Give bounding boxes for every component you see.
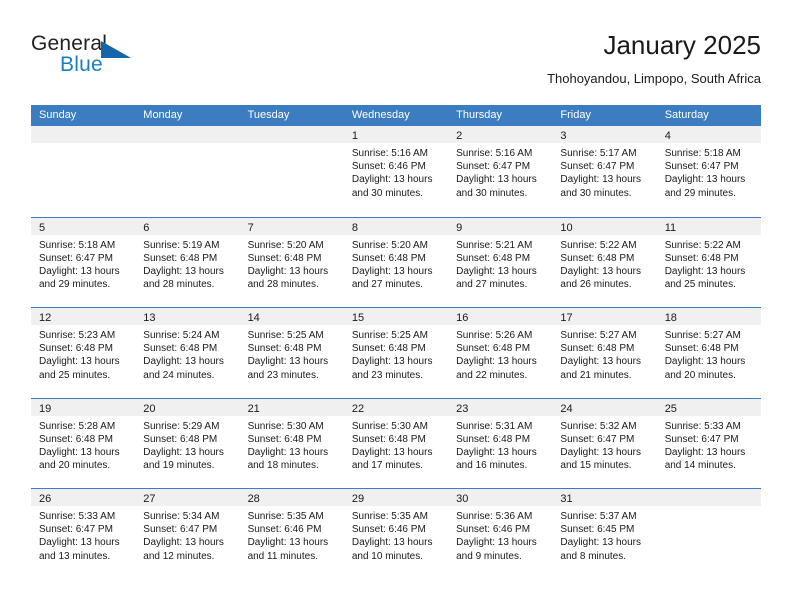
calendar-week-row: 5Sunrise: 5:18 AMSunset: 6:47 PMDaylight… (31, 217, 761, 308)
day-sun-info: Sunrise: 5:28 AMSunset: 6:48 PMDaylight:… (31, 416, 135, 473)
sunrise-text: Sunrise: 5:29 AM (143, 420, 233, 433)
day-sun-info: Sunrise: 5:21 AMSunset: 6:48 PMDaylight:… (448, 235, 552, 292)
calendar-day-cell[interactable]: 30Sunrise: 5:36 AMSunset: 6:46 PMDayligh… (448, 489, 552, 579)
day-number: 28 (248, 493, 260, 505)
sunrise-text: Sunrise: 5:23 AM (39, 329, 129, 342)
day-number-band: 23 (448, 399, 552, 416)
weekday-header-friday: Friday (552, 105, 656, 126)
day-number: 31 (560, 493, 572, 505)
sunrise-text: Sunrise: 5:19 AM (143, 239, 233, 252)
sunset-text: Sunset: 6:48 PM (456, 252, 546, 265)
daylight-text: Daylight: 13 hours and 30 minutes. (456, 173, 546, 199)
calendar-day-cell[interactable]: 21Sunrise: 5:30 AMSunset: 6:48 PMDayligh… (240, 399, 344, 489)
day-number-band: 8 (344, 218, 448, 235)
sunset-text: Sunset: 6:48 PM (248, 433, 338, 446)
sunset-text: Sunset: 6:48 PM (248, 252, 338, 265)
day-sun-info: Sunrise: 5:33 AMSunset: 6:47 PMDaylight:… (657, 416, 761, 473)
daylight-text: Daylight: 13 hours and 17 minutes. (352, 446, 442, 472)
day-number-band (135, 126, 239, 143)
page-title: January 2025 (547, 30, 761, 60)
sunrise-text: Sunrise: 5:30 AM (352, 420, 442, 433)
daylight-text: Daylight: 13 hours and 10 minutes. (352, 536, 442, 562)
sunrise-text: Sunrise: 5:31 AM (456, 420, 546, 433)
calendar-day-cell[interactable]: 23Sunrise: 5:31 AMSunset: 6:48 PMDayligh… (448, 399, 552, 489)
calendar-day-cell[interactable]: 22Sunrise: 5:30 AMSunset: 6:48 PMDayligh… (344, 399, 448, 489)
daylight-text: Daylight: 13 hours and 21 minutes. (560, 355, 650, 381)
day-number: 12 (39, 312, 51, 324)
calendar-day-cell[interactable]: 11Sunrise: 5:22 AMSunset: 6:48 PMDayligh… (657, 218, 761, 308)
day-number: 21 (248, 403, 260, 415)
calendar-week-row: 19Sunrise: 5:28 AMSunset: 6:48 PMDayligh… (31, 398, 761, 489)
sunset-text: Sunset: 6:46 PM (456, 523, 546, 536)
day-number: 16 (456, 312, 468, 324)
daylight-text: Daylight: 13 hours and 23 minutes. (352, 355, 442, 381)
day-sun-info: Sunrise: 5:37 AMSunset: 6:45 PMDaylight:… (552, 506, 656, 563)
daylight-text: Daylight: 13 hours and 28 minutes. (143, 265, 233, 291)
sunrise-text: Sunrise: 5:18 AM (39, 239, 129, 252)
day-number-band: 20 (135, 399, 239, 416)
sunrise-text: Sunrise: 5:22 AM (665, 239, 755, 252)
day-number: 11 (665, 222, 676, 234)
day-number: 29 (352, 493, 364, 505)
sunrise-text: Sunrise: 5:33 AM (665, 420, 755, 433)
day-sun-info: Sunrise: 5:34 AMSunset: 6:47 PMDaylight:… (135, 506, 239, 563)
daylight-text: Daylight: 13 hours and 30 minutes. (352, 173, 442, 199)
calendar-week-row: 26Sunrise: 5:33 AMSunset: 6:47 PMDayligh… (31, 488, 761, 579)
day-number-band: 25 (657, 399, 761, 416)
sunset-text: Sunset: 6:47 PM (665, 433, 755, 446)
sunrise-text: Sunrise: 5:30 AM (248, 420, 338, 433)
sunset-text: Sunset: 6:46 PM (352, 523, 442, 536)
sunset-text: Sunset: 6:48 PM (39, 433, 129, 446)
day-number-band (31, 126, 135, 143)
day-sun-info: Sunrise: 5:25 AMSunset: 6:48 PMDaylight:… (240, 325, 344, 382)
day-number-band: 10 (552, 218, 656, 235)
day-number-band: 6 (135, 218, 239, 235)
sunset-text: Sunset: 6:48 PM (143, 433, 233, 446)
day-number-band: 7 (240, 218, 344, 235)
sunset-text: Sunset: 6:48 PM (248, 342, 338, 355)
daylight-text: Daylight: 13 hours and 29 minutes. (665, 173, 755, 199)
general-blue-logo[interactable]: General Blue (31, 32, 151, 86)
day-sun-info: Sunrise: 5:16 AMSunset: 6:46 PMDaylight:… (344, 143, 448, 200)
sunset-text: Sunset: 6:46 PM (248, 523, 338, 536)
daylight-text: Daylight: 13 hours and 27 minutes. (352, 265, 442, 291)
day-sun-info: Sunrise: 5:16 AMSunset: 6:47 PMDaylight:… (448, 143, 552, 200)
calendar-day-cell[interactable]: 13Sunrise: 5:24 AMSunset: 6:48 PMDayligh… (135, 308, 239, 398)
calendar-day-cell[interactable]: 8Sunrise: 5:20 AMSunset: 6:48 PMDaylight… (344, 218, 448, 308)
day-sun-info: Sunrise: 5:30 AMSunset: 6:48 PMDaylight:… (240, 416, 344, 473)
sunrise-text: Sunrise: 5:20 AM (352, 239, 442, 252)
sunset-text: Sunset: 6:48 PM (352, 433, 442, 446)
day-number-band: 27 (135, 489, 239, 506)
calendar-day-cell[interactable]: 17Sunrise: 5:27 AMSunset: 6:48 PMDayligh… (552, 308, 656, 398)
day-number: 15 (352, 312, 364, 324)
sunrise-text: Sunrise: 5:27 AM (665, 329, 755, 342)
day-number: 8 (352, 222, 358, 234)
day-sun-info: Sunrise: 5:22 AMSunset: 6:48 PMDaylight:… (657, 235, 761, 292)
sunset-text: Sunset: 6:45 PM (560, 523, 650, 536)
day-number: 22 (352, 403, 364, 415)
weekday-header-thursday: Thursday (448, 105, 552, 126)
day-number-band: 14 (240, 308, 344, 325)
calendar-day-cell[interactable]: 24Sunrise: 5:32 AMSunset: 6:47 PMDayligh… (552, 399, 656, 489)
calendar-day-cell[interactable]: 27Sunrise: 5:34 AMSunset: 6:47 PMDayligh… (135, 489, 239, 579)
day-number: 30 (456, 493, 468, 505)
day-number: 26 (39, 493, 51, 505)
day-number-band: 11 (657, 218, 761, 235)
calendar-day-cell[interactable]: 15Sunrise: 5:25 AMSunset: 6:48 PMDayligh… (344, 308, 448, 398)
day-number: 18 (665, 312, 677, 324)
daylight-text: Daylight: 13 hours and 25 minutes. (665, 265, 755, 291)
sunrise-text: Sunrise: 5:28 AM (39, 420, 129, 433)
daylight-text: Daylight: 13 hours and 12 minutes. (143, 536, 233, 562)
sunrise-text: Sunrise: 5:37 AM (560, 510, 650, 523)
calendar-day-empty (657, 489, 761, 579)
day-sun-info: Sunrise: 5:33 AMSunset: 6:47 PMDaylight:… (31, 506, 135, 563)
day-number-band: 4 (657, 126, 761, 143)
daylight-text: Daylight: 13 hours and 28 minutes. (248, 265, 338, 291)
day-sun-info: Sunrise: 5:17 AMSunset: 6:47 PMDaylight:… (552, 143, 656, 200)
weekday-header-wednesday: Wednesday (344, 105, 448, 126)
sunrise-text: Sunrise: 5:26 AM (456, 329, 546, 342)
day-number-band: 3 (552, 126, 656, 143)
brand-name-blue: Blue (60, 53, 103, 77)
calendar-day-cell[interactable]: 10Sunrise: 5:22 AMSunset: 6:48 PMDayligh… (552, 218, 656, 308)
day-number: 13 (143, 312, 155, 324)
day-number-band: 15 (344, 308, 448, 325)
sunrise-text: Sunrise: 5:20 AM (248, 239, 338, 252)
daylight-text: Daylight: 13 hours and 23 minutes. (248, 355, 338, 381)
sunrise-text: Sunrise: 5:33 AM (39, 510, 129, 523)
calendar-day-cell[interactable]: 9Sunrise: 5:21 AMSunset: 6:48 PMDaylight… (448, 218, 552, 308)
calendar-day-cell[interactable]: 31Sunrise: 5:37 AMSunset: 6:45 PMDayligh… (552, 489, 656, 579)
day-number: 27 (143, 493, 155, 505)
sunrise-text: Sunrise: 5:17 AM (560, 147, 650, 160)
day-sun-info: Sunrise: 5:18 AMSunset: 6:47 PMDaylight:… (657, 143, 761, 200)
day-sun-info: Sunrise: 5:35 AMSunset: 6:46 PMDaylight:… (240, 506, 344, 563)
day-number: 25 (665, 403, 677, 415)
day-number-band: 22 (344, 399, 448, 416)
day-sun-info: Sunrise: 5:20 AMSunset: 6:48 PMDaylight:… (240, 235, 344, 292)
sunset-text: Sunset: 6:47 PM (39, 523, 129, 536)
page-header: General Blue January 2025 Thohoyandou, L… (31, 30, 761, 100)
day-sun-info: Sunrise: 5:19 AMSunset: 6:48 PMDaylight:… (135, 235, 239, 292)
sunrise-text: Sunrise: 5:27 AM (560, 329, 650, 342)
daylight-text: Daylight: 13 hours and 30 minutes. (560, 173, 650, 199)
day-sun-info: Sunrise: 5:23 AMSunset: 6:48 PMDaylight:… (31, 325, 135, 382)
sunset-text: Sunset: 6:48 PM (352, 252, 442, 265)
sunset-text: Sunset: 6:48 PM (665, 252, 755, 265)
sunset-text: Sunset: 6:48 PM (143, 252, 233, 265)
calendar-weeks: 1Sunrise: 5:16 AMSunset: 6:46 PMDaylight… (31, 126, 761, 579)
day-number-band: 26 (31, 489, 135, 506)
sunrise-text: Sunrise: 5:16 AM (456, 147, 546, 160)
day-number: 19 (39, 403, 51, 415)
sunrise-text: Sunrise: 5:22 AM (560, 239, 650, 252)
day-number-band: 12 (31, 308, 135, 325)
sunrise-text: Sunrise: 5:35 AM (352, 510, 442, 523)
daylight-text: Daylight: 13 hours and 9 minutes. (456, 536, 546, 562)
day-sun-info: Sunrise: 5:27 AMSunset: 6:48 PMDaylight:… (657, 325, 761, 382)
calendar-week-row: 1Sunrise: 5:16 AMSunset: 6:46 PMDaylight… (31, 126, 761, 217)
day-number-band: 31 (552, 489, 656, 506)
weekday-header-sunday: Sunday (31, 105, 135, 126)
day-number: 20 (143, 403, 155, 415)
day-number-band: 17 (552, 308, 656, 325)
calendar-page: General Blue January 2025 Thohoyandou, L… (0, 0, 792, 612)
calendar-day-cell[interactable]: 3Sunrise: 5:17 AMSunset: 6:47 PMDaylight… (552, 126, 656, 217)
day-number: 7 (248, 222, 254, 234)
blue-triangle-icon (101, 41, 131, 58)
day-number-band (240, 126, 344, 143)
day-number-band: 13 (135, 308, 239, 325)
daylight-text: Daylight: 13 hours and 14 minutes. (665, 446, 755, 472)
daylight-text: Daylight: 13 hours and 27 minutes. (456, 265, 546, 291)
calendar-day-cell[interactable]: 28Sunrise: 5:35 AMSunset: 6:46 PMDayligh… (240, 489, 344, 579)
day-number: 5 (39, 222, 45, 234)
calendar-day-cell[interactable]: 12Sunrise: 5:23 AMSunset: 6:48 PMDayligh… (31, 308, 135, 398)
day-number: 17 (560, 312, 572, 324)
calendar-day-cell[interactable]: 26Sunrise: 5:33 AMSunset: 6:47 PMDayligh… (31, 489, 135, 579)
day-number-band: 24 (552, 399, 656, 416)
day-number-band: 1 (344, 126, 448, 143)
calendar-day-cell[interactable]: 19Sunrise: 5:28 AMSunset: 6:48 PMDayligh… (31, 399, 135, 489)
day-sun-info: Sunrise: 5:36 AMSunset: 6:46 PMDaylight:… (448, 506, 552, 563)
day-number-band: 19 (31, 399, 135, 416)
day-number-band: 29 (344, 489, 448, 506)
calendar-week-row: 12Sunrise: 5:23 AMSunset: 6:48 PMDayligh… (31, 307, 761, 398)
day-sun-info: Sunrise: 5:31 AMSunset: 6:48 PMDaylight:… (448, 416, 552, 473)
day-number-band (657, 489, 761, 506)
day-sun-info: Sunrise: 5:24 AMSunset: 6:48 PMDaylight:… (135, 325, 239, 382)
day-number-band: 2 (448, 126, 552, 143)
weekday-header-row: Sunday Monday Tuesday Wednesday Thursday… (31, 105, 761, 126)
sunrise-text: Sunrise: 5:16 AM (352, 147, 442, 160)
day-sun-info: Sunrise: 5:35 AMSunset: 6:46 PMDaylight:… (344, 506, 448, 563)
sunset-text: Sunset: 6:48 PM (352, 342, 442, 355)
calendar-grid: Sunday Monday Tuesday Wednesday Thursday… (31, 105, 761, 579)
day-sun-info: Sunrise: 5:20 AMSunset: 6:48 PMDaylight:… (344, 235, 448, 292)
calendar-day-cell[interactable]: 6Sunrise: 5:19 AMSunset: 6:48 PMDaylight… (135, 218, 239, 308)
day-sun-info: Sunrise: 5:22 AMSunset: 6:48 PMDaylight:… (552, 235, 656, 292)
daylight-text: Daylight: 13 hours and 20 minutes. (39, 446, 129, 472)
weekday-header-monday: Monday (135, 105, 239, 126)
daylight-text: Daylight: 13 hours and 26 minutes. (560, 265, 650, 291)
day-number: 1 (352, 130, 358, 142)
sunset-text: Sunset: 6:48 PM (665, 342, 755, 355)
sunset-text: Sunset: 6:47 PM (560, 433, 650, 446)
sunset-text: Sunset: 6:48 PM (39, 342, 129, 355)
day-number-band: 28 (240, 489, 344, 506)
daylight-text: Daylight: 13 hours and 22 minutes. (456, 355, 546, 381)
day-number: 24 (560, 403, 572, 415)
calendar-day-cell[interactable]: 2Sunrise: 5:16 AMSunset: 6:47 PMDaylight… (448, 126, 552, 217)
sunrise-text: Sunrise: 5:36 AM (456, 510, 546, 523)
day-sun-info: Sunrise: 5:18 AMSunset: 6:47 PMDaylight:… (31, 235, 135, 292)
day-number: 14 (248, 312, 260, 324)
sunset-text: Sunset: 6:47 PM (665, 160, 755, 173)
day-sun-info: Sunrise: 5:29 AMSunset: 6:48 PMDaylight:… (135, 416, 239, 473)
sunset-text: Sunset: 6:48 PM (456, 342, 546, 355)
calendar-day-cell[interactable]: 14Sunrise: 5:25 AMSunset: 6:48 PMDayligh… (240, 308, 344, 398)
day-number: 2 (456, 130, 462, 142)
daylight-text: Daylight: 13 hours and 29 minutes. (39, 265, 129, 291)
sunrise-text: Sunrise: 5:25 AM (352, 329, 442, 342)
daylight-text: Daylight: 13 hours and 13 minutes. (39, 536, 129, 562)
sunset-text: Sunset: 6:48 PM (560, 252, 650, 265)
calendar-day-cell[interactable]: 1Sunrise: 5:16 AMSunset: 6:46 PMDaylight… (344, 126, 448, 217)
day-number: 4 (665, 130, 671, 142)
sunrise-text: Sunrise: 5:25 AM (248, 329, 338, 342)
day-number-band: 21 (240, 399, 344, 416)
sunset-text: Sunset: 6:47 PM (560, 160, 650, 173)
daylight-text: Daylight: 13 hours and 11 minutes. (248, 536, 338, 562)
sunset-text: Sunset: 6:47 PM (143, 523, 233, 536)
calendar-day-cell[interactable]: 25Sunrise: 5:33 AMSunset: 6:47 PMDayligh… (657, 399, 761, 489)
sunset-text: Sunset: 6:48 PM (143, 342, 233, 355)
daylight-text: Daylight: 13 hours and 20 minutes. (665, 355, 755, 381)
weekday-header-tuesday: Tuesday (240, 105, 344, 126)
sunset-text: Sunset: 6:47 PM (39, 252, 129, 265)
calendar-day-empty (135, 126, 239, 217)
sunrise-text: Sunrise: 5:34 AM (143, 510, 233, 523)
calendar-day-empty (240, 126, 344, 217)
day-sun-info: Sunrise: 5:26 AMSunset: 6:48 PMDaylight:… (448, 325, 552, 382)
day-number: 3 (560, 130, 566, 142)
day-number-band: 5 (31, 218, 135, 235)
day-number: 9 (456, 222, 462, 234)
day-sun-info: Sunrise: 5:25 AMSunset: 6:48 PMDaylight:… (344, 325, 448, 382)
weekday-header-saturday: Saturday (657, 105, 761, 126)
calendar-day-cell[interactable]: 5Sunrise: 5:18 AMSunset: 6:47 PMDaylight… (31, 218, 135, 308)
day-sun-info: Sunrise: 5:30 AMSunset: 6:48 PMDaylight:… (344, 416, 448, 473)
sunset-text: Sunset: 6:48 PM (560, 342, 650, 355)
day-number: 10 (560, 222, 572, 234)
calendar-day-cell[interactable]: 29Sunrise: 5:35 AMSunset: 6:46 PMDayligh… (344, 489, 448, 579)
sunrise-text: Sunrise: 5:21 AM (456, 239, 546, 252)
title-block: January 2025 Thohoyandou, Limpopo, South… (547, 30, 761, 88)
day-sun-info: Sunrise: 5:32 AMSunset: 6:47 PMDaylight:… (552, 416, 656, 473)
day-number-band: 30 (448, 489, 552, 506)
day-number-band: 16 (448, 308, 552, 325)
sunrise-text: Sunrise: 5:32 AM (560, 420, 650, 433)
daylight-text: Daylight: 13 hours and 15 minutes. (560, 446, 650, 472)
day-number-band: 18 (657, 308, 761, 325)
calendar-day-cell[interactable]: 18Sunrise: 5:27 AMSunset: 6:48 PMDayligh… (657, 308, 761, 398)
daylight-text: Daylight: 13 hours and 19 minutes. (143, 446, 233, 472)
daylight-text: Daylight: 13 hours and 8 minutes. (560, 536, 650, 562)
daylight-text: Daylight: 13 hours and 25 minutes. (39, 355, 129, 381)
calendar-day-cell[interactable]: 4Sunrise: 5:18 AMSunset: 6:47 PMDaylight… (657, 126, 761, 217)
page-subtitle: Thohoyandou, Limpopo, South Africa (547, 70, 761, 88)
sunrise-text: Sunrise: 5:18 AM (665, 147, 755, 160)
sunrise-text: Sunrise: 5:24 AM (143, 329, 233, 342)
day-number-band: 9 (448, 218, 552, 235)
calendar-day-cell[interactable]: 16Sunrise: 5:26 AMSunset: 6:48 PMDayligh… (448, 308, 552, 398)
sunset-text: Sunset: 6:48 PM (456, 433, 546, 446)
calendar-day-empty (31, 126, 135, 217)
daylight-text: Daylight: 13 hours and 24 minutes. (143, 355, 233, 381)
day-number: 6 (143, 222, 149, 234)
day-number: 23 (456, 403, 468, 415)
sunset-text: Sunset: 6:46 PM (352, 160, 442, 173)
sunset-text: Sunset: 6:47 PM (456, 160, 546, 173)
sunrise-text: Sunrise: 5:35 AM (248, 510, 338, 523)
calendar-day-cell[interactable]: 20Sunrise: 5:29 AMSunset: 6:48 PMDayligh… (135, 399, 239, 489)
calendar-day-cell[interactable]: 7Sunrise: 5:20 AMSunset: 6:48 PMDaylight… (240, 218, 344, 308)
day-sun-info: Sunrise: 5:27 AMSunset: 6:48 PMDaylight:… (552, 325, 656, 382)
daylight-text: Daylight: 13 hours and 16 minutes. (456, 446, 546, 472)
daylight-text: Daylight: 13 hours and 18 minutes. (248, 446, 338, 472)
